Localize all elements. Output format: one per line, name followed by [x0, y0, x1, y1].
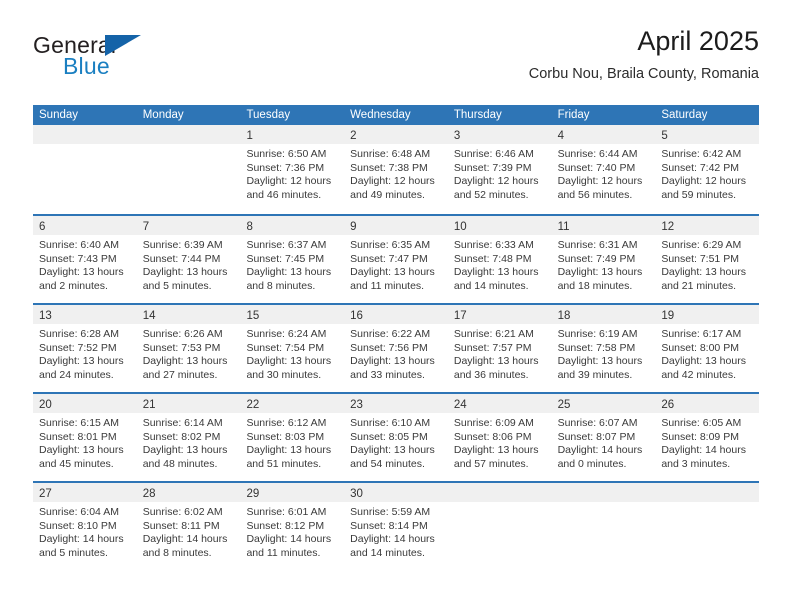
day-info-line: Sunset: 8:09 PM	[661, 431, 753, 445]
day-number-band: 20	[33, 394, 137, 413]
day-info-line: Sunset: 7:43 PM	[39, 253, 131, 267]
day-info-line: Sunset: 7:40 PM	[558, 162, 650, 176]
calendar-cell-day-23[interactable]: 23Sunrise: 6:10 AMSunset: 8:05 PMDayligh…	[344, 394, 448, 481]
day-number-band: 2	[344, 125, 448, 144]
day-number: 28	[143, 488, 156, 500]
day-header-friday: Friday	[552, 105, 656, 125]
day-info-line: and 54 minutes.	[350, 458, 442, 472]
day-number-band: 17	[448, 305, 552, 324]
day-info-line: Sunrise: 6:12 AM	[246, 417, 338, 431]
calendar-cell-day-19[interactable]: 19Sunrise: 6:17 AMSunset: 8:00 PMDayligh…	[655, 305, 759, 392]
day-info-line: and 46 minutes.	[246, 189, 338, 203]
day-info-line: Sunrise: 6:46 AM	[454, 148, 546, 162]
day-info-line: Sunrise: 6:07 AM	[558, 417, 650, 431]
day-info-line: Daylight: 13 hours	[454, 355, 546, 369]
day-number: 27	[39, 488, 52, 500]
calendar-cell-day-6[interactable]: 6Sunrise: 6:40 AMSunset: 7:43 PMDaylight…	[33, 216, 137, 303]
day-info-line: Sunrise: 6:10 AM	[350, 417, 442, 431]
day-info-line: Daylight: 12 hours	[661, 175, 753, 189]
calendar-week-row: 1Sunrise: 6:50 AMSunset: 7:36 PMDaylight…	[33, 125, 759, 214]
page-title: April 2025	[529, 24, 759, 58]
calendar-week-row: 6Sunrise: 6:40 AMSunset: 7:43 PMDaylight…	[33, 214, 759, 303]
day-number: 21	[143, 399, 156, 411]
day-number: 26	[661, 399, 674, 411]
calendar-cell-day-27[interactable]: 27Sunrise: 6:04 AMSunset: 8:10 PMDayligh…	[33, 483, 137, 570]
day-sun-info: Sunrise: 6:15 AMSunset: 8:01 PMDaylight:…	[33, 413, 137, 471]
day-info-line: Sunset: 7:44 PM	[143, 253, 235, 267]
day-info-line: Sunset: 8:00 PM	[661, 342, 753, 356]
day-number: 20	[39, 399, 52, 411]
day-info-line: Daylight: 12 hours	[558, 175, 650, 189]
calendar-cell-day-20[interactable]: 20Sunrise: 6:15 AMSunset: 8:01 PMDayligh…	[33, 394, 137, 481]
day-info-line: Sunset: 8:02 PM	[143, 431, 235, 445]
day-sun-info: Sunrise: 6:09 AMSunset: 8:06 PMDaylight:…	[448, 413, 552, 471]
calendar-cell-empty	[655, 483, 759, 570]
day-number-band: 19	[655, 305, 759, 324]
calendar-cell-day-9[interactable]: 9Sunrise: 6:35 AMSunset: 7:47 PMDaylight…	[344, 216, 448, 303]
day-number-band: 4	[552, 125, 656, 144]
day-number-band: 25	[552, 394, 656, 413]
day-number-band: 16	[344, 305, 448, 324]
day-info-line: Sunset: 7:45 PM	[246, 253, 338, 267]
day-header-wednesday: Wednesday	[344, 105, 448, 125]
day-number-band: 11	[552, 216, 656, 235]
day-sun-info: Sunrise: 6:07 AMSunset: 8:07 PMDaylight:…	[552, 413, 656, 471]
day-info-line: Sunrise: 6:35 AM	[350, 239, 442, 253]
day-number-band	[655, 483, 759, 502]
day-info-line: Daylight: 13 hours	[350, 444, 442, 458]
calendar-cell-day-16[interactable]: 16Sunrise: 6:22 AMSunset: 7:56 PMDayligh…	[344, 305, 448, 392]
day-number-band: 26	[655, 394, 759, 413]
day-info-line: Sunrise: 6:50 AM	[246, 148, 338, 162]
day-info-line: Daylight: 14 hours	[246, 533, 338, 547]
day-info-line: Sunset: 8:03 PM	[246, 431, 338, 445]
calendar-cell-day-2[interactable]: 2Sunrise: 6:48 AMSunset: 7:38 PMDaylight…	[344, 125, 448, 214]
day-info-line: Sunset: 7:58 PM	[558, 342, 650, 356]
day-info-line: Sunset: 8:06 PM	[454, 431, 546, 445]
day-info-line: Sunrise: 6:05 AM	[661, 417, 753, 431]
day-info-line: and 33 minutes.	[350, 369, 442, 383]
day-info-line: and 27 minutes.	[143, 369, 235, 383]
calendar-cell-day-1[interactable]: 1Sunrise: 6:50 AMSunset: 7:36 PMDaylight…	[240, 125, 344, 214]
day-sun-info: Sunrise: 6:48 AMSunset: 7:38 PMDaylight:…	[344, 144, 448, 202]
day-number-band: 29	[240, 483, 344, 502]
day-sun-info: Sunrise: 6:26 AMSunset: 7:53 PMDaylight:…	[137, 324, 241, 382]
day-info-line: Sunrise: 6:14 AM	[143, 417, 235, 431]
day-info-line: and 24 minutes.	[39, 369, 131, 383]
day-number-band: 22	[240, 394, 344, 413]
day-number: 7	[143, 221, 149, 233]
day-info-line: Daylight: 13 hours	[39, 266, 131, 280]
day-info-line: Sunset: 8:12 PM	[246, 520, 338, 534]
calendar-cell-empty	[448, 483, 552, 570]
day-sun-info: Sunrise: 6:02 AMSunset: 8:11 PMDaylight:…	[137, 502, 241, 560]
day-info-line: and 48 minutes.	[143, 458, 235, 472]
calendar-cell-day-14[interactable]: 14Sunrise: 6:26 AMSunset: 7:53 PMDayligh…	[137, 305, 241, 392]
day-sun-info: Sunrise: 6:01 AMSunset: 8:12 PMDaylight:…	[240, 502, 344, 560]
day-info-line: and 5 minutes.	[39, 547, 131, 561]
day-header-saturday: Saturday	[655, 105, 759, 125]
day-info-line: Sunrise: 6:19 AM	[558, 328, 650, 342]
day-number: 4	[558, 130, 564, 142]
page-header: General Blue April 2025 Corbu Nou, Brail…	[33, 24, 759, 98]
day-number-band: 27	[33, 483, 137, 502]
day-info-line: Sunrise: 6:40 AM	[39, 239, 131, 253]
day-number-band: 24	[448, 394, 552, 413]
day-info-line: Sunrise: 6:09 AM	[454, 417, 546, 431]
day-info-line: and 56 minutes.	[558, 189, 650, 203]
day-sun-info: Sunrise: 6:21 AMSunset: 7:57 PMDaylight:…	[448, 324, 552, 382]
day-info-line: and 45 minutes.	[39, 458, 131, 472]
day-info-line: Daylight: 14 hours	[661, 444, 753, 458]
day-number-band: 28	[137, 483, 241, 502]
day-number: 5	[661, 130, 667, 142]
day-sun-info: Sunrise: 6:46 AMSunset: 7:39 PMDaylight:…	[448, 144, 552, 202]
title-block: April 2025 Corbu Nou, Braila County, Rom…	[529, 24, 759, 84]
day-sun-info: Sunrise: 6:50 AMSunset: 7:36 PMDaylight:…	[240, 144, 344, 202]
calendar-cell-day-18[interactable]: 18Sunrise: 6:19 AMSunset: 7:58 PMDayligh…	[552, 305, 656, 392]
day-info-line: Sunrise: 6:33 AM	[454, 239, 546, 253]
day-sun-info: Sunrise: 6:31 AMSunset: 7:49 PMDaylight:…	[552, 235, 656, 293]
day-sun-info: Sunrise: 6:10 AMSunset: 8:05 PMDaylight:…	[344, 413, 448, 471]
day-number-band: 9	[344, 216, 448, 235]
day-info-line: Sunset: 8:14 PM	[350, 520, 442, 534]
day-number: 2	[350, 130, 356, 142]
day-info-line: Sunset: 7:51 PM	[661, 253, 753, 267]
day-number-band	[552, 483, 656, 502]
calendar-cell-day-15[interactable]: 15Sunrise: 6:24 AMSunset: 7:54 PMDayligh…	[240, 305, 344, 392]
day-info-line: Sunset: 7:38 PM	[350, 162, 442, 176]
day-info-line: Sunrise: 6:31 AM	[558, 239, 650, 253]
day-info-line: and 51 minutes.	[246, 458, 338, 472]
day-number: 18	[558, 310, 571, 322]
day-info-line: Daylight: 14 hours	[558, 444, 650, 458]
day-header-sunday: Sunday	[33, 105, 137, 125]
day-number: 30	[350, 488, 363, 500]
day-info-line: and 11 minutes.	[350, 280, 442, 294]
calendar-week-row: 27Sunrise: 6:04 AMSunset: 8:10 PMDayligh…	[33, 481, 759, 570]
day-info-line: and 36 minutes.	[454, 369, 546, 383]
day-header-thursday: Thursday	[448, 105, 552, 125]
calendar-cell-day-8[interactable]: 8Sunrise: 6:37 AMSunset: 7:45 PMDaylight…	[240, 216, 344, 303]
day-info-line: Daylight: 13 hours	[246, 266, 338, 280]
day-number-band: 23	[344, 394, 448, 413]
day-sun-info: Sunrise: 6:17 AMSunset: 8:00 PMDaylight:…	[655, 324, 759, 382]
day-number: 9	[350, 221, 356, 233]
day-info-line: and 0 minutes.	[558, 458, 650, 472]
day-info-line: Daylight: 13 hours	[246, 444, 338, 458]
day-sun-info: Sunrise: 6:28 AMSunset: 7:52 PMDaylight:…	[33, 324, 137, 382]
day-info-line: Sunset: 7:54 PM	[246, 342, 338, 356]
calendar-cell-day-7[interactable]: 7Sunrise: 6:39 AMSunset: 7:44 PMDaylight…	[137, 216, 241, 303]
day-sun-info: Sunrise: 6:44 AMSunset: 7:40 PMDaylight:…	[552, 144, 656, 202]
day-info-line: Daylight: 13 hours	[39, 355, 131, 369]
day-info-line: Sunset: 8:07 PM	[558, 431, 650, 445]
day-info-line: Daylight: 13 hours	[39, 444, 131, 458]
day-of-week-header-row: SundayMondayTuesdayWednesdayThursdayFrid…	[33, 105, 759, 125]
day-info-line: Daylight: 13 hours	[454, 444, 546, 458]
day-number: 12	[661, 221, 674, 233]
day-number: 13	[39, 310, 52, 322]
day-info-line: Sunrise: 6:37 AM	[246, 239, 338, 253]
calendar-cell-day-29[interactable]: 29Sunrise: 6:01 AMSunset: 8:12 PMDayligh…	[240, 483, 344, 570]
day-info-line: and 2 minutes.	[39, 280, 131, 294]
day-number-band: 13	[33, 305, 137, 324]
day-info-line: Daylight: 13 hours	[350, 266, 442, 280]
day-header-tuesday: Tuesday	[240, 105, 344, 125]
day-number-band: 10	[448, 216, 552, 235]
calendar-cell-empty	[33, 125, 137, 214]
day-number-band: 3	[448, 125, 552, 144]
day-info-line: and 57 minutes.	[454, 458, 546, 472]
day-number: 19	[661, 310, 674, 322]
day-info-line: and 14 minutes.	[350, 547, 442, 561]
day-info-line: and 11 minutes.	[246, 547, 338, 561]
day-number: 16	[350, 310, 363, 322]
day-info-line: and 8 minutes.	[246, 280, 338, 294]
day-number-band: 18	[552, 305, 656, 324]
day-number-band	[33, 125, 137, 144]
day-info-line: Sunset: 7:42 PM	[661, 162, 753, 176]
day-info-line: Sunrise: 6:44 AM	[558, 148, 650, 162]
day-number-band	[448, 483, 552, 502]
day-info-line: Daylight: 13 hours	[246, 355, 338, 369]
day-sun-info: Sunrise: 6:40 AMSunset: 7:43 PMDaylight:…	[33, 235, 137, 293]
day-info-line: Daylight: 13 hours	[143, 444, 235, 458]
day-number: 8	[246, 221, 252, 233]
day-info-line: Sunrise: 5:59 AM	[350, 506, 442, 520]
logo-text-blue: Blue	[63, 53, 110, 80]
day-info-line: Daylight: 13 hours	[661, 355, 753, 369]
day-info-line: Daylight: 13 hours	[350, 355, 442, 369]
day-info-line: Sunset: 7:47 PM	[350, 253, 442, 267]
day-sun-info: Sunrise: 6:42 AMSunset: 7:42 PMDaylight:…	[655, 144, 759, 202]
day-info-line: and 5 minutes.	[143, 280, 235, 294]
day-number-band: 7	[137, 216, 241, 235]
day-info-line: Sunrise: 6:22 AM	[350, 328, 442, 342]
calendar-page: General Blue April 2025 Corbu Nou, Brail…	[0, 0, 792, 612]
calendar-cell-day-3[interactable]: 3Sunrise: 6:46 AMSunset: 7:39 PMDaylight…	[448, 125, 552, 214]
day-number: 10	[454, 221, 467, 233]
day-number: 22	[246, 399, 259, 411]
day-info-line: Daylight: 14 hours	[39, 533, 131, 547]
day-info-line: Sunrise: 6:26 AM	[143, 328, 235, 342]
calendar-weeks: 1Sunrise: 6:50 AMSunset: 7:36 PMDaylight…	[33, 125, 759, 570]
day-info-line: and 59 minutes.	[661, 189, 753, 203]
day-info-line: Sunrise: 6:48 AM	[350, 148, 442, 162]
calendar-cell-day-13[interactable]: 13Sunrise: 6:28 AMSunset: 7:52 PMDayligh…	[33, 305, 137, 392]
day-info-line: Sunset: 7:53 PM	[143, 342, 235, 356]
day-info-line: and 8 minutes.	[143, 547, 235, 561]
day-number: 17	[454, 310, 467, 322]
general-blue-logo[interactable]: General Blue	[33, 32, 163, 84]
day-info-line: Sunset: 7:36 PM	[246, 162, 338, 176]
day-info-line: and 30 minutes.	[246, 369, 338, 383]
day-number-band: 14	[137, 305, 241, 324]
day-info-line: Daylight: 14 hours	[350, 533, 442, 547]
day-info-line: Daylight: 13 hours	[143, 266, 235, 280]
day-info-line: Sunrise: 6:02 AM	[143, 506, 235, 520]
calendar-cell-day-12[interactable]: 12Sunrise: 6:29 AMSunset: 7:51 PMDayligh…	[655, 216, 759, 303]
calendar-cell-empty	[137, 125, 241, 214]
day-info-line: Sunrise: 6:24 AM	[246, 328, 338, 342]
calendar-cell-day-25[interactable]: 25Sunrise: 6:07 AMSunset: 8:07 PMDayligh…	[552, 394, 656, 481]
day-number: 1	[246, 130, 252, 142]
day-number-band: 12	[655, 216, 759, 235]
location-subtitle: Corbu Nou, Braila County, Romania	[529, 64, 759, 84]
day-sun-info: Sunrise: 6:04 AMSunset: 8:10 PMDaylight:…	[33, 502, 137, 560]
day-info-line: Sunset: 7:57 PM	[454, 342, 546, 356]
day-info-line: Daylight: 13 hours	[558, 266, 650, 280]
day-info-line: and 21 minutes.	[661, 280, 753, 294]
day-info-line: Sunrise: 6:39 AM	[143, 239, 235, 253]
day-info-line: Sunrise: 6:17 AM	[661, 328, 753, 342]
day-sun-info: Sunrise: 6:22 AMSunset: 7:56 PMDaylight:…	[344, 324, 448, 382]
day-sun-info: Sunrise: 6:35 AMSunset: 7:47 PMDaylight:…	[344, 235, 448, 293]
day-info-line: Daylight: 12 hours	[350, 175, 442, 189]
day-info-line: Sunrise: 6:15 AM	[39, 417, 131, 431]
calendar-cell-day-30[interactable]: 30Sunrise: 5:59 AMSunset: 8:14 PMDayligh…	[344, 483, 448, 570]
day-info-line: and 39 minutes.	[558, 369, 650, 383]
day-number: 15	[246, 310, 259, 322]
day-sun-info: Sunrise: 6:37 AMSunset: 7:45 PMDaylight:…	[240, 235, 344, 293]
day-info-line: Sunset: 7:52 PM	[39, 342, 131, 356]
day-sun-info: Sunrise: 6:39 AMSunset: 7:44 PMDaylight:…	[137, 235, 241, 293]
calendar-cell-day-22[interactable]: 22Sunrise: 6:12 AMSunset: 8:03 PMDayligh…	[240, 394, 344, 481]
day-number-band: 21	[137, 394, 241, 413]
calendar-cell-day-17[interactable]: 17Sunrise: 6:21 AMSunset: 7:57 PMDayligh…	[448, 305, 552, 392]
day-info-line: Sunset: 8:10 PM	[39, 520, 131, 534]
day-info-line: and 3 minutes.	[661, 458, 753, 472]
day-sun-info: Sunrise: 6:33 AMSunset: 7:48 PMDaylight:…	[448, 235, 552, 293]
day-sun-info: Sunrise: 6:05 AMSunset: 8:09 PMDaylight:…	[655, 413, 759, 471]
day-number: 11	[558, 221, 570, 233]
day-number-band: 6	[33, 216, 137, 235]
day-info-line: Sunrise: 6:28 AM	[39, 328, 131, 342]
day-info-line: Sunrise: 6:29 AM	[661, 239, 753, 253]
day-info-line: Daylight: 13 hours	[661, 266, 753, 280]
calendar-cell-day-28[interactable]: 28Sunrise: 6:02 AMSunset: 8:11 PMDayligh…	[137, 483, 241, 570]
day-sun-info: Sunrise: 6:29 AMSunset: 7:51 PMDaylight:…	[655, 235, 759, 293]
day-info-line: Sunset: 7:56 PM	[350, 342, 442, 356]
day-info-line: and 49 minutes.	[350, 189, 442, 203]
day-info-line: Sunrise: 6:01 AM	[246, 506, 338, 520]
day-number: 23	[350, 399, 363, 411]
day-info-line: and 42 minutes.	[661, 369, 753, 383]
day-info-line: Sunset: 7:49 PM	[558, 253, 650, 267]
day-number-band: 30	[344, 483, 448, 502]
calendar-cell-day-4[interactable]: 4Sunrise: 6:44 AMSunset: 7:40 PMDaylight…	[552, 125, 656, 214]
calendar-cell-day-21[interactable]: 21Sunrise: 6:14 AMSunset: 8:02 PMDayligh…	[137, 394, 241, 481]
day-info-line: Sunset: 8:05 PM	[350, 431, 442, 445]
day-number-band: 1	[240, 125, 344, 144]
day-info-line: Daylight: 13 hours	[558, 355, 650, 369]
day-info-line: Sunrise: 6:04 AM	[39, 506, 131, 520]
day-info-line: Sunset: 7:48 PM	[454, 253, 546, 267]
calendar-cell-day-11[interactable]: 11Sunrise: 6:31 AMSunset: 7:49 PMDayligh…	[552, 216, 656, 303]
day-number: 25	[558, 399, 571, 411]
day-sun-info: Sunrise: 6:19 AMSunset: 7:58 PMDaylight:…	[552, 324, 656, 382]
day-header-monday: Monday	[137, 105, 241, 125]
day-number: 24	[454, 399, 467, 411]
calendar-cell-empty	[552, 483, 656, 570]
calendar-week-row: 13Sunrise: 6:28 AMSunset: 7:52 PMDayligh…	[33, 303, 759, 392]
day-number-band	[137, 125, 241, 144]
day-sun-info: Sunrise: 6:14 AMSunset: 8:02 PMDaylight:…	[137, 413, 241, 471]
calendar-grid: SundayMondayTuesdayWednesdayThursdayFrid…	[33, 105, 759, 570]
day-sun-info: Sunrise: 6:24 AMSunset: 7:54 PMDaylight:…	[240, 324, 344, 382]
day-number: 3	[454, 130, 460, 142]
day-info-line: Sunset: 8:01 PM	[39, 431, 131, 445]
day-info-line: and 18 minutes.	[558, 280, 650, 294]
day-info-line: Sunrise: 6:42 AM	[661, 148, 753, 162]
day-info-line: Daylight: 14 hours	[143, 533, 235, 547]
day-number: 29	[246, 488, 259, 500]
day-number-band: 8	[240, 216, 344, 235]
day-number-band: 15	[240, 305, 344, 324]
logo-triangle-icon	[105, 35, 141, 56]
calendar-cell-day-10[interactable]: 10Sunrise: 6:33 AMSunset: 7:48 PMDayligh…	[448, 216, 552, 303]
day-sun-info: Sunrise: 5:59 AMSunset: 8:14 PMDaylight:…	[344, 502, 448, 560]
day-info-line: Daylight: 13 hours	[143, 355, 235, 369]
calendar-week-row: 20Sunrise: 6:15 AMSunset: 8:01 PMDayligh…	[33, 392, 759, 481]
day-info-line: Daylight: 13 hours	[454, 266, 546, 280]
calendar-cell-day-26[interactable]: 26Sunrise: 6:05 AMSunset: 8:09 PMDayligh…	[655, 394, 759, 481]
day-info-line: Daylight: 12 hours	[246, 175, 338, 189]
day-number-band: 5	[655, 125, 759, 144]
day-info-line: Sunrise: 6:21 AM	[454, 328, 546, 342]
day-number: 14	[143, 310, 156, 322]
day-sun-info: Sunrise: 6:12 AMSunset: 8:03 PMDaylight:…	[240, 413, 344, 471]
day-info-line: Daylight: 12 hours	[454, 175, 546, 189]
calendar-cell-day-5[interactable]: 5Sunrise: 6:42 AMSunset: 7:42 PMDaylight…	[655, 125, 759, 214]
day-number: 6	[39, 221, 45, 233]
day-info-line: and 52 minutes.	[454, 189, 546, 203]
day-info-line: Sunset: 8:11 PM	[143, 520, 235, 534]
day-info-line: Sunset: 7:39 PM	[454, 162, 546, 176]
day-info-line: and 14 minutes.	[454, 280, 546, 294]
calendar-cell-day-24[interactable]: 24Sunrise: 6:09 AMSunset: 8:06 PMDayligh…	[448, 394, 552, 481]
